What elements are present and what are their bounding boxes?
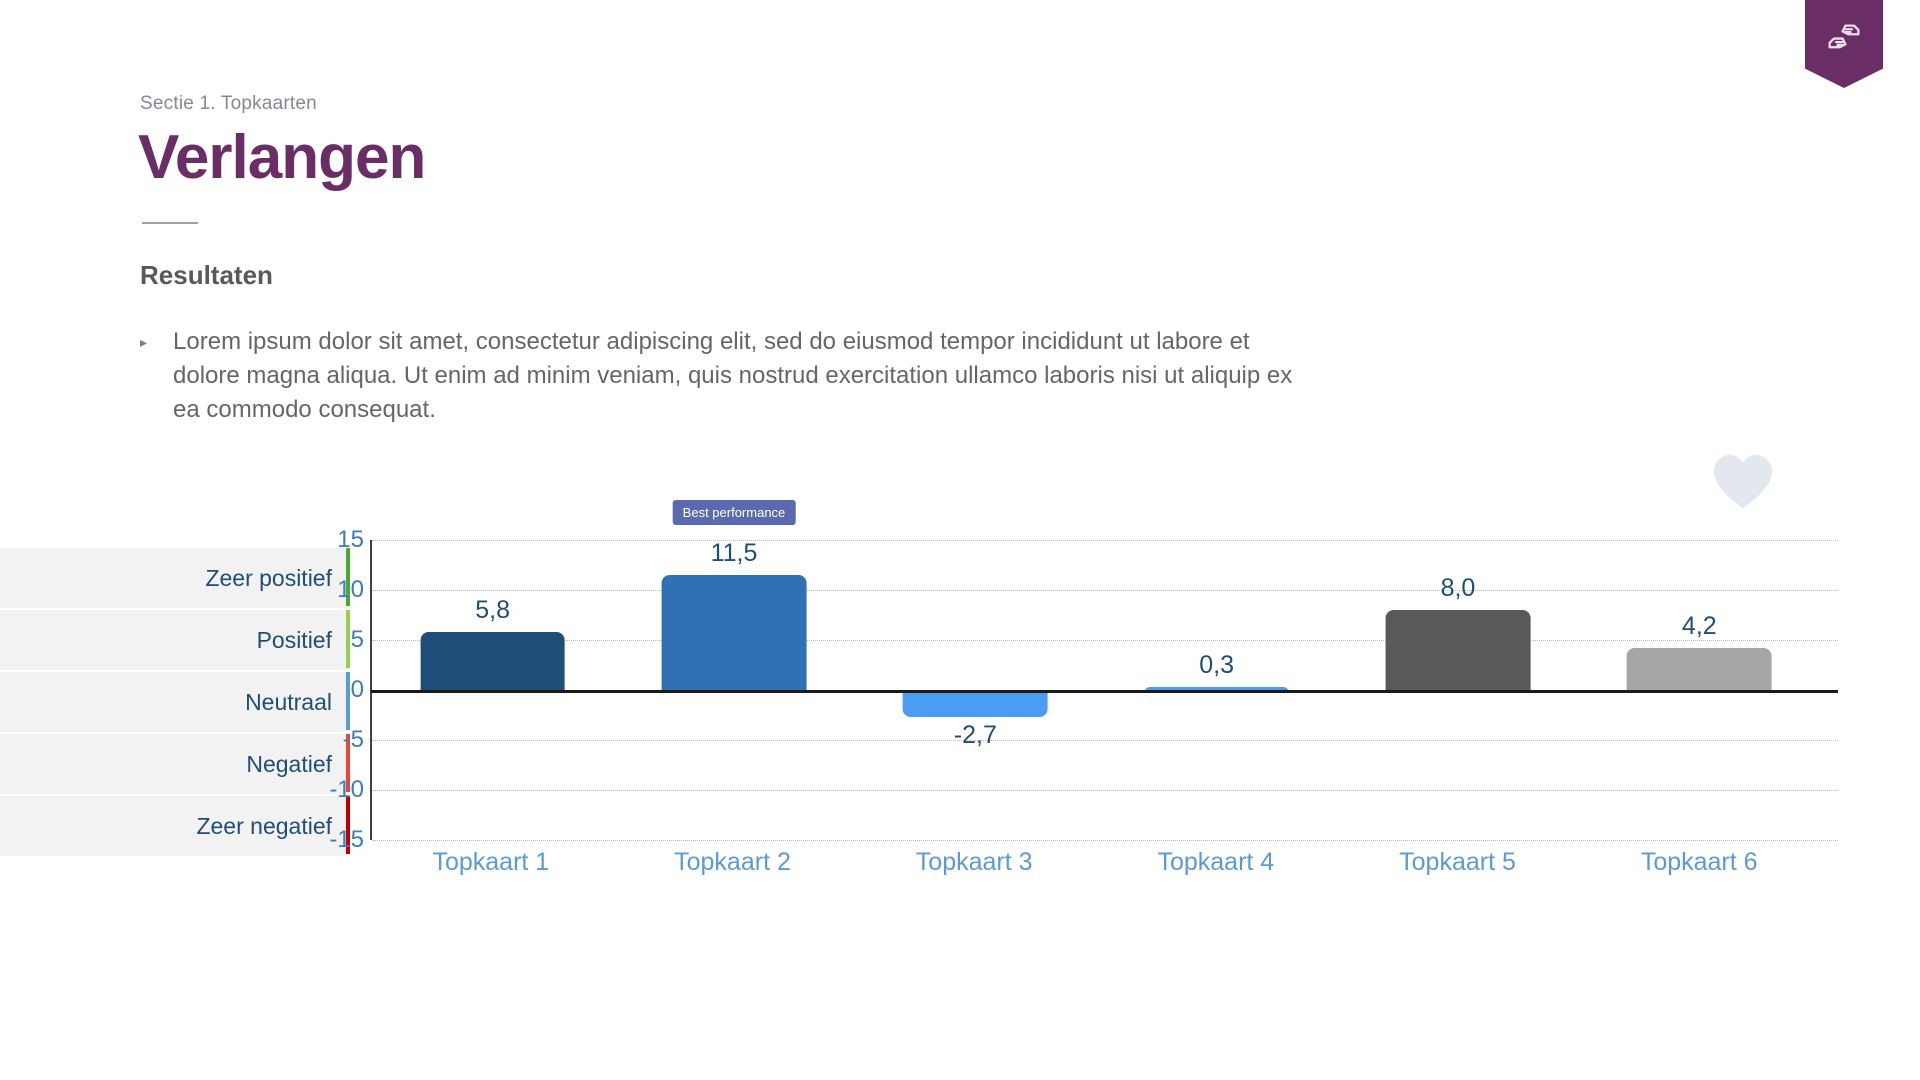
results-subheading: Resultaten	[140, 260, 273, 291]
helping-hands-icon	[1821, 17, 1867, 63]
legend-item-zeer-negatief: Zeer negatief	[0, 796, 350, 858]
gridline	[372, 840, 1838, 841]
y-axis-tick: 5	[310, 626, 364, 654]
x-axis-label: Topkaart 4	[1095, 848, 1337, 877]
bar-value-label: 0,3	[1199, 651, 1234, 680]
bullet-list-item: ▸ Lorem ipsum dolor sit amet, consectetu…	[140, 325, 1310, 427]
zero-axis-line	[371, 690, 1838, 693]
brand-logo-badge	[1805, 0, 1883, 88]
x-axis-label: Topkaart 1	[370, 848, 612, 877]
bar-value-label: 8,0	[1441, 574, 1476, 603]
legend-item-neutraal: Neutraal	[0, 672, 350, 734]
legend-item-positief: Positief	[0, 610, 350, 672]
y-axis-tick: -5	[310, 726, 364, 754]
chart-plot-area: 5,811,5Best performance-2,70,38,04,2	[370, 540, 1820, 840]
y-axis-ticks: 151050-5-10-15	[310, 540, 364, 840]
bullet-paragraph: Lorem ipsum dolor sit amet, consectetur …	[173, 325, 1310, 427]
bar-value-label: -2,7	[954, 721, 997, 750]
legend-item-zeer-positief: Zeer positief	[0, 548, 350, 610]
bar-value-label: 4,2	[1682, 612, 1717, 641]
x-axis-label: Topkaart 5	[1337, 848, 1579, 877]
legend-item-negatief: Negatief	[0, 734, 350, 796]
section-eyebrow: Sectie 1. Topkaarten	[140, 93, 317, 115]
y-axis-tick: -10	[310, 776, 364, 804]
bullet-triangle-icon: ▸	[140, 325, 147, 427]
y-axis-tick: 10	[310, 576, 364, 604]
bar[interactable]	[1386, 610, 1531, 690]
best-performance-badge: Best performance	[673, 500, 796, 525]
x-axis-label: Topkaart 6	[1578, 848, 1820, 877]
bar[interactable]	[662, 575, 807, 690]
results-bar-chart: 151050-5-10-15 5,811,5Best performance-2…	[370, 540, 1820, 860]
x-axis-label: Topkaart 3	[853, 848, 1095, 877]
y-axis-tick: -15	[310, 826, 364, 854]
page-title: Verlangen	[138, 122, 425, 193]
sentiment-legend: Zeer positief Positief Neutraal Negatief…	[0, 548, 350, 858]
title-divider	[142, 222, 198, 224]
bar[interactable]	[1627, 648, 1772, 690]
bar-value-label: 5,8	[475, 596, 510, 625]
bar[interactable]	[420, 632, 565, 690]
bar-value-label: 11,5	[711, 539, 758, 568]
x-axis-label: Topkaart 2	[612, 848, 854, 877]
heart-icon	[1712, 452, 1774, 510]
y-axis-tick: 15	[310, 526, 364, 554]
bar[interactable]	[903, 690, 1048, 717]
x-axis-labels: Topkaart 1Topkaart 2Topkaart 3Topkaart 4…	[370, 848, 1820, 877]
y-axis-tick: 0	[310, 676, 364, 704]
